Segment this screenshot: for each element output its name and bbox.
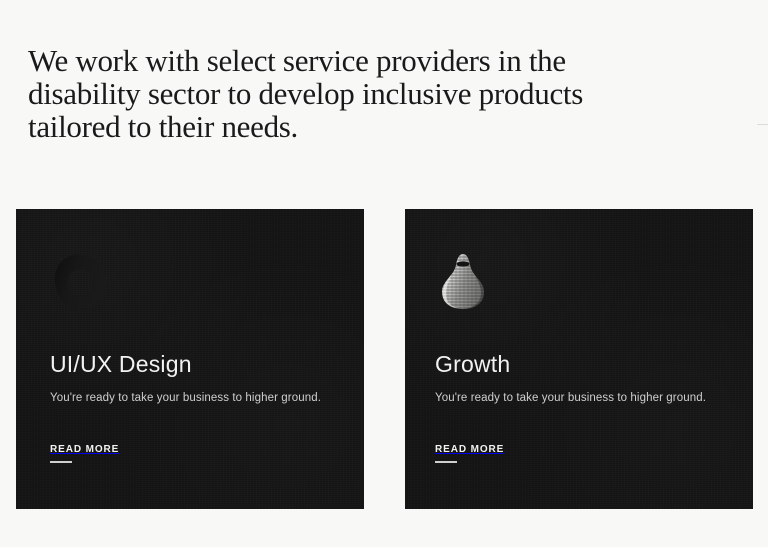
card-description: You're ready to take your business to hi… [435, 391, 735, 406]
read-more-underline [50, 461, 72, 463]
service-card-grid: UI/UX Design You're ready to take your b… [0, 0, 768, 547]
service-card-growth[interactable]: Growth You're ready to take your busines… [405, 209, 753, 509]
card-description: You're ready to take your business to hi… [50, 391, 350, 406]
read-more-link[interactable]: READ MORE [50, 444, 119, 463]
read-more-underline [435, 461, 457, 463]
card-title: UI/UX Design [50, 351, 192, 377]
read-more-label: READ MORE [435, 444, 504, 455]
ribbed-teardrop-vase-icon [434, 251, 492, 311]
service-card-ui-ux-design[interactable]: UI/UX Design You're ready to take your b… [16, 209, 364, 509]
card-title: Growth [435, 351, 510, 377]
read-more-label: READ MORE [50, 444, 119, 455]
striped-torus-ring-icon [50, 250, 110, 312]
read-more-link[interactable]: READ MORE [435, 444, 504, 463]
